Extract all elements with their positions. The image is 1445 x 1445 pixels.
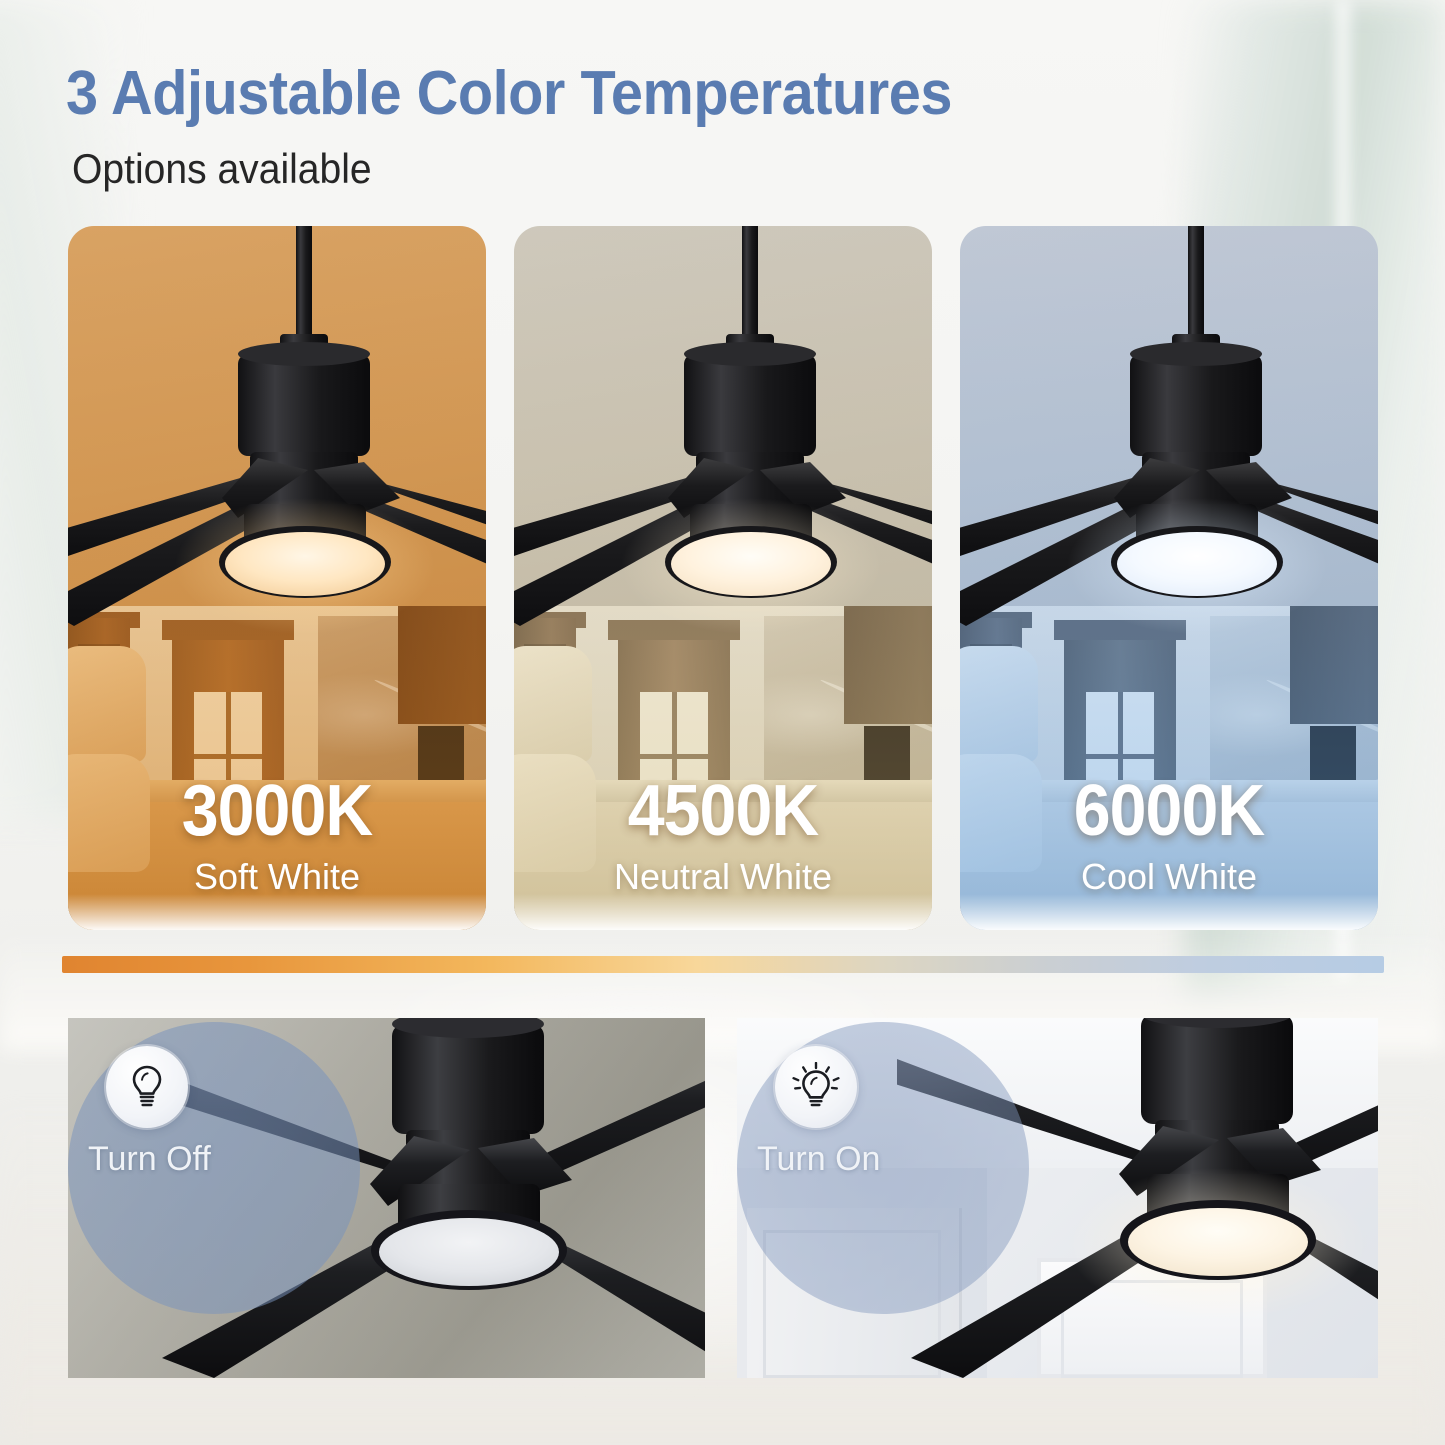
status-badge-off[interactable]: Turn Off [68, 1018, 368, 1318]
card-bottom-fade [68, 894, 486, 930]
ceiling [960, 226, 1378, 628]
lightbulb-off-icon[interactable] [106, 1046, 188, 1128]
temperature-name: Neutral White [514, 856, 932, 898]
door-cornice [608, 620, 740, 640]
door-cornice [162, 620, 294, 640]
kelvin-value: 4500K [531, 770, 916, 852]
temperature-card-4500k[interactable]: 4500K Neutral White [514, 226, 932, 930]
upper-cabinet [398, 606, 486, 724]
product-feature-image: 3 Adjustable Color Temperatures Options … [0, 0, 1445, 1445]
temperature-card-group: 3000K Soft White [68, 226, 1378, 930]
upper-cabinet [844, 606, 932, 724]
kelvin-value: 3000K [85, 770, 470, 852]
turn-on-label: Turn On [757, 1140, 1017, 1179]
card-bottom-fade [960, 894, 1378, 930]
temperature-name: Cool White [960, 856, 1378, 898]
page-title: 3 Adjustable Color Temperatures [66, 58, 952, 129]
temperature-name: Soft White [68, 856, 486, 898]
ceiling [514, 226, 932, 628]
chair-back [514, 646, 592, 762]
upper-cabinet [1290, 606, 1378, 724]
lightbulb-on-icon[interactable] [775, 1046, 857, 1128]
chair-back [960, 646, 1038, 762]
card-bottom-fade [514, 894, 932, 930]
chair-back [68, 646, 146, 762]
turn-off-label: Turn Off [88, 1140, 348, 1179]
temperature-card-6000k[interactable]: 6000K Cool White [960, 226, 1378, 930]
page-subtitle: Options available [72, 145, 372, 193]
kelvin-value: 6000K [977, 770, 1362, 852]
temperature-card-3000k[interactable]: 3000K Soft White [68, 226, 486, 930]
gradient-divider [62, 956, 1384, 973]
ceiling [68, 226, 486, 628]
door [1037, 1258, 1267, 1378]
light-panel-turn-off[interactable]: Turn Off [68, 1018, 705, 1378]
status-badge-on[interactable]: Turn On [737, 1018, 1037, 1318]
door-cornice [1054, 620, 1186, 640]
light-panel-turn-on[interactable]: Turn On [737, 1018, 1378, 1378]
